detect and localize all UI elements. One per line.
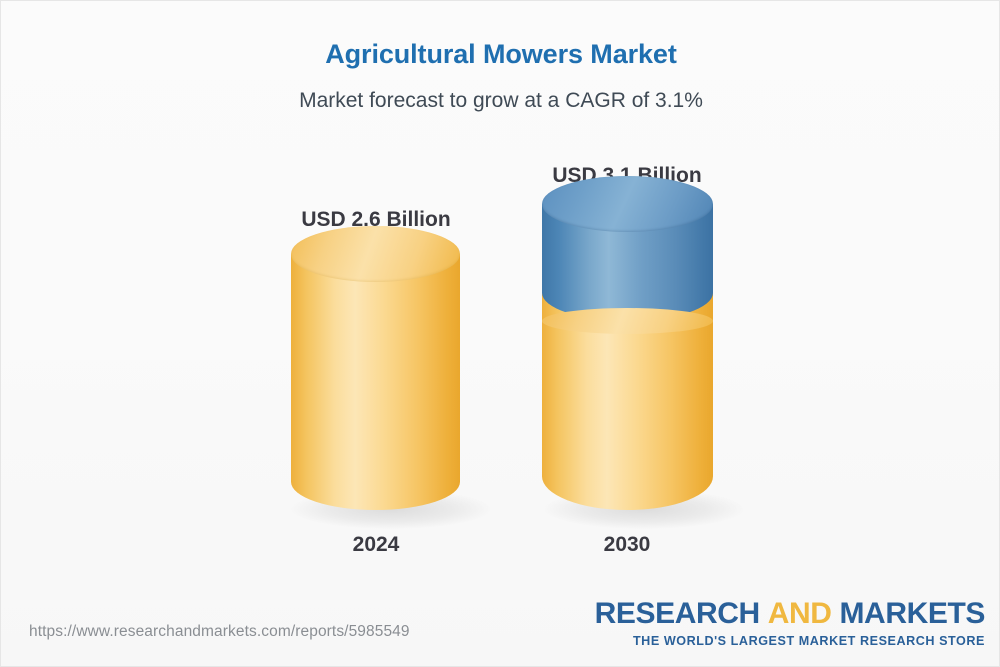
bar-top-cap-gold-2024 [291,226,460,282]
bar-segment-divider-2030 [542,308,713,334]
bar-cylinder-2030[interactable] [542,204,713,510]
brand-tagline: THE WORLD'S LARGEST MARKET RESEARCH STOR… [595,634,985,648]
bar-category-label-2024: 2024 [251,533,501,557]
bar-chart-plot-area: USD 2.6 Billion 2024 USD 3.1 Billion [1,1,1000,667]
brand-name: RESEARCH AND MARKETS [595,599,985,629]
brand-logo[interactable]: RESEARCH AND MARKETS THE WORLD'S LARGEST… [595,599,985,648]
source-url[interactable]: https://www.researchandmarkets.com/repor… [29,623,410,641]
chart-canvas: Agricultural Mowers Market Market foreca… [0,0,1000,667]
bar-category-label-2030: 2030 [502,533,752,557]
bar-cylinder-2024[interactable] [291,254,460,510]
bar-top-cap-blue-2030 [542,176,713,232]
bar-body-gold-2024 [291,254,460,510]
brand-word-markets: MARKETS [839,597,985,630]
brand-word-research: RESEARCH [595,597,760,630]
brand-word-and: AND [768,597,832,630]
